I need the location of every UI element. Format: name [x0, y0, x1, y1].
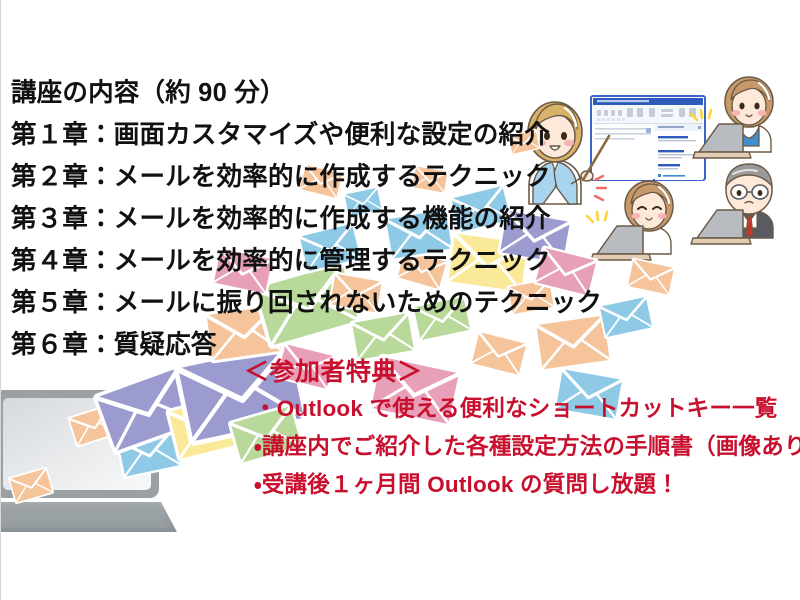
bonus-item-2: ・講座内でご紹介した各種設定方法の手順書（画像あり） — [244, 428, 799, 466]
bonus-item-3: ・受講後１ヶ月間 Outlook の質問し放題！ — [244, 466, 799, 504]
agenda-heading: 講座の内容（約 90 分） — [11, 72, 551, 114]
participant-bonus-block: ＜参加者特典＞ ・Outlook で使える便利なショートカットキー一覧 ・講座内… — [244, 354, 799, 504]
slide-canvas: 講座の内容（約 90 分） 第１章：画面カスタマイズや便利な設定の紹介 第２章：… — [0, 0, 800, 600]
bonus-item-1: ・Outlook で使える便利なショートカットキー一覧 — [244, 390, 799, 428]
agenda-item-2: 第２章：メールを効率的に作成するテクニック — [11, 156, 551, 198]
agenda-item-5: 第５章：メールに振り回されないためのテクニック — [11, 282, 551, 324]
agenda-item-3: 第３章：メールを効率的に作成する機能の紹介 — [11, 198, 551, 240]
agenda-item-4: 第４章：メールを効率的に管理するテクニック — [11, 240, 551, 282]
agenda-item-1: 第１章：画面カスタマイズや便利な設定の紹介 — [11, 114, 551, 156]
text-layer: 講座の内容（約 90 分） 第１章：画面カスタマイズや便利な設定の紹介 第２章：… — [1, 0, 800, 600]
bonus-heading: ＜参加者特典＞ — [244, 354, 799, 390]
agenda-block: 講座の内容（約 90 分） 第１章：画面カスタマイズや便利な設定の紹介 第２章：… — [11, 72, 551, 366]
